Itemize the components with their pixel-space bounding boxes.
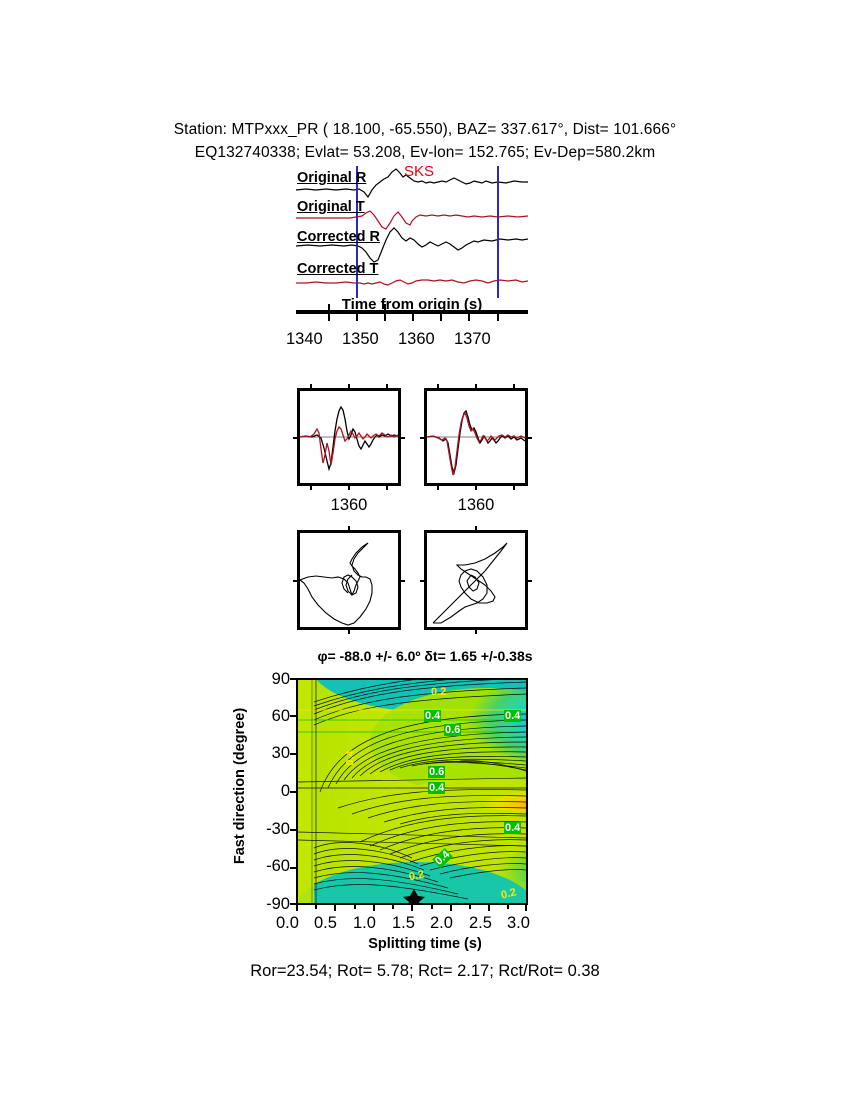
contour-label-0-4-low-right: 0.4 xyxy=(504,822,521,834)
y-tick-neg30: -30 xyxy=(244,820,290,839)
trace-label-corrected-t: Corrected T xyxy=(297,261,378,277)
sks-phase-label: SKS xyxy=(404,163,434,180)
time-tick-1350: 1350 xyxy=(342,330,379,349)
contour-label-0-4-top: 0.4 xyxy=(424,710,441,722)
y-tick-60: 60 xyxy=(244,707,290,726)
figure-header: Station: MTPxxx_PR ( 18.100, -65.550), B… xyxy=(0,118,850,164)
y-tick-30: 30 xyxy=(244,744,290,763)
y-axis-ticks xyxy=(290,678,296,905)
waveform-panel-corrected-tick-label: 1360 xyxy=(441,496,511,515)
trace-label-original-t: Original T xyxy=(297,199,365,215)
fast-slow-overlay-uncorrected xyxy=(300,391,398,483)
y-axis-title: Fast direction (degree) xyxy=(216,700,240,880)
misfit-surface xyxy=(298,680,526,903)
splitting-misfit-contour-plot[interactable]: 0.2 0.4 0.4 0.6 0.4 0.6 0.4 0.4 0.4 0.2 … xyxy=(296,678,528,905)
time-axis xyxy=(296,310,528,314)
contour-label-0-6-top: 0.6 xyxy=(444,724,461,736)
x-tick-1-0: 1.0 xyxy=(353,914,376,933)
waveform-panel-uncorrected xyxy=(297,388,401,486)
contour-plot-title: φ= -88.0 +/- 6.0º δt= 1.65 +/-0.38s xyxy=(0,648,850,664)
time-tick-1340: 1340 xyxy=(286,330,323,349)
particle-motion-corrected-trace xyxy=(427,533,525,627)
y-tick-0: 0 xyxy=(244,782,290,801)
x-axis-tick-labels: 0.0 0.5 1.0 1.5 2.0 2.5 3.0 xyxy=(276,914,548,938)
time-tick-1360: 1360 xyxy=(398,330,435,349)
x-tick-0-5: 0.5 xyxy=(314,914,337,933)
x-axis-ticks xyxy=(296,905,528,912)
x-tick-1-5: 1.5 xyxy=(392,914,415,933)
x-tick-2-0: 2.0 xyxy=(430,914,453,933)
contour-label-0-4-mid: 0.4 xyxy=(428,782,445,794)
y-tick-90: 90 xyxy=(244,670,290,689)
trace-label-corrected-r: Corrected R xyxy=(297,229,380,245)
time-axis-tick-labels: 1340 1350 1360 1370 xyxy=(286,330,538,354)
x-tick-3-0: 3.0 xyxy=(507,914,530,933)
particle-motion-uncorrected xyxy=(297,530,401,630)
contour-label-0-2-top: 0.2 xyxy=(430,686,447,698)
contour-label-0-6-mid: 0.6 xyxy=(428,766,445,778)
contour-label-0-4-top-right: 0.4 xyxy=(504,710,521,722)
trace-label-original-r: Original R xyxy=(297,170,366,186)
figure-footer-stats: Ror=23.54; Rot= 5.78; Rct= 2.17; Rct/Rot… xyxy=(0,962,850,981)
time-tick-1370: 1370 xyxy=(454,330,491,349)
phase-window-marker-end xyxy=(497,166,499,298)
header-line-station: Station: MTPxxx_PR ( 18.100, -65.550), B… xyxy=(0,118,850,141)
y-axis-tick-labels: 90 60 30 0 -30 -60 -90 xyxy=(240,670,290,915)
x-tick-2-5: 2.5 xyxy=(469,914,492,933)
y-tick-neg90: -90 xyxy=(244,895,290,914)
header-line-event: EQ132740338; Evlat= 53.208, Ev-lon= 152.… xyxy=(0,141,850,164)
particle-motion-uncorrected-trace xyxy=(300,533,398,627)
fast-slow-overlay-corrected xyxy=(427,391,525,483)
waveform-panel-corrected xyxy=(424,388,528,486)
x-axis-title: Splitting time (s) xyxy=(0,936,850,952)
waveform-panel-uncorrected-tick-label: 1360 xyxy=(314,496,384,515)
contour-label-0-4-left: 0.4 xyxy=(345,749,357,766)
x-tick-0-0: 0.0 xyxy=(276,914,299,933)
particle-motion-corrected xyxy=(424,530,528,630)
y-tick-neg60: -60 xyxy=(244,857,290,876)
